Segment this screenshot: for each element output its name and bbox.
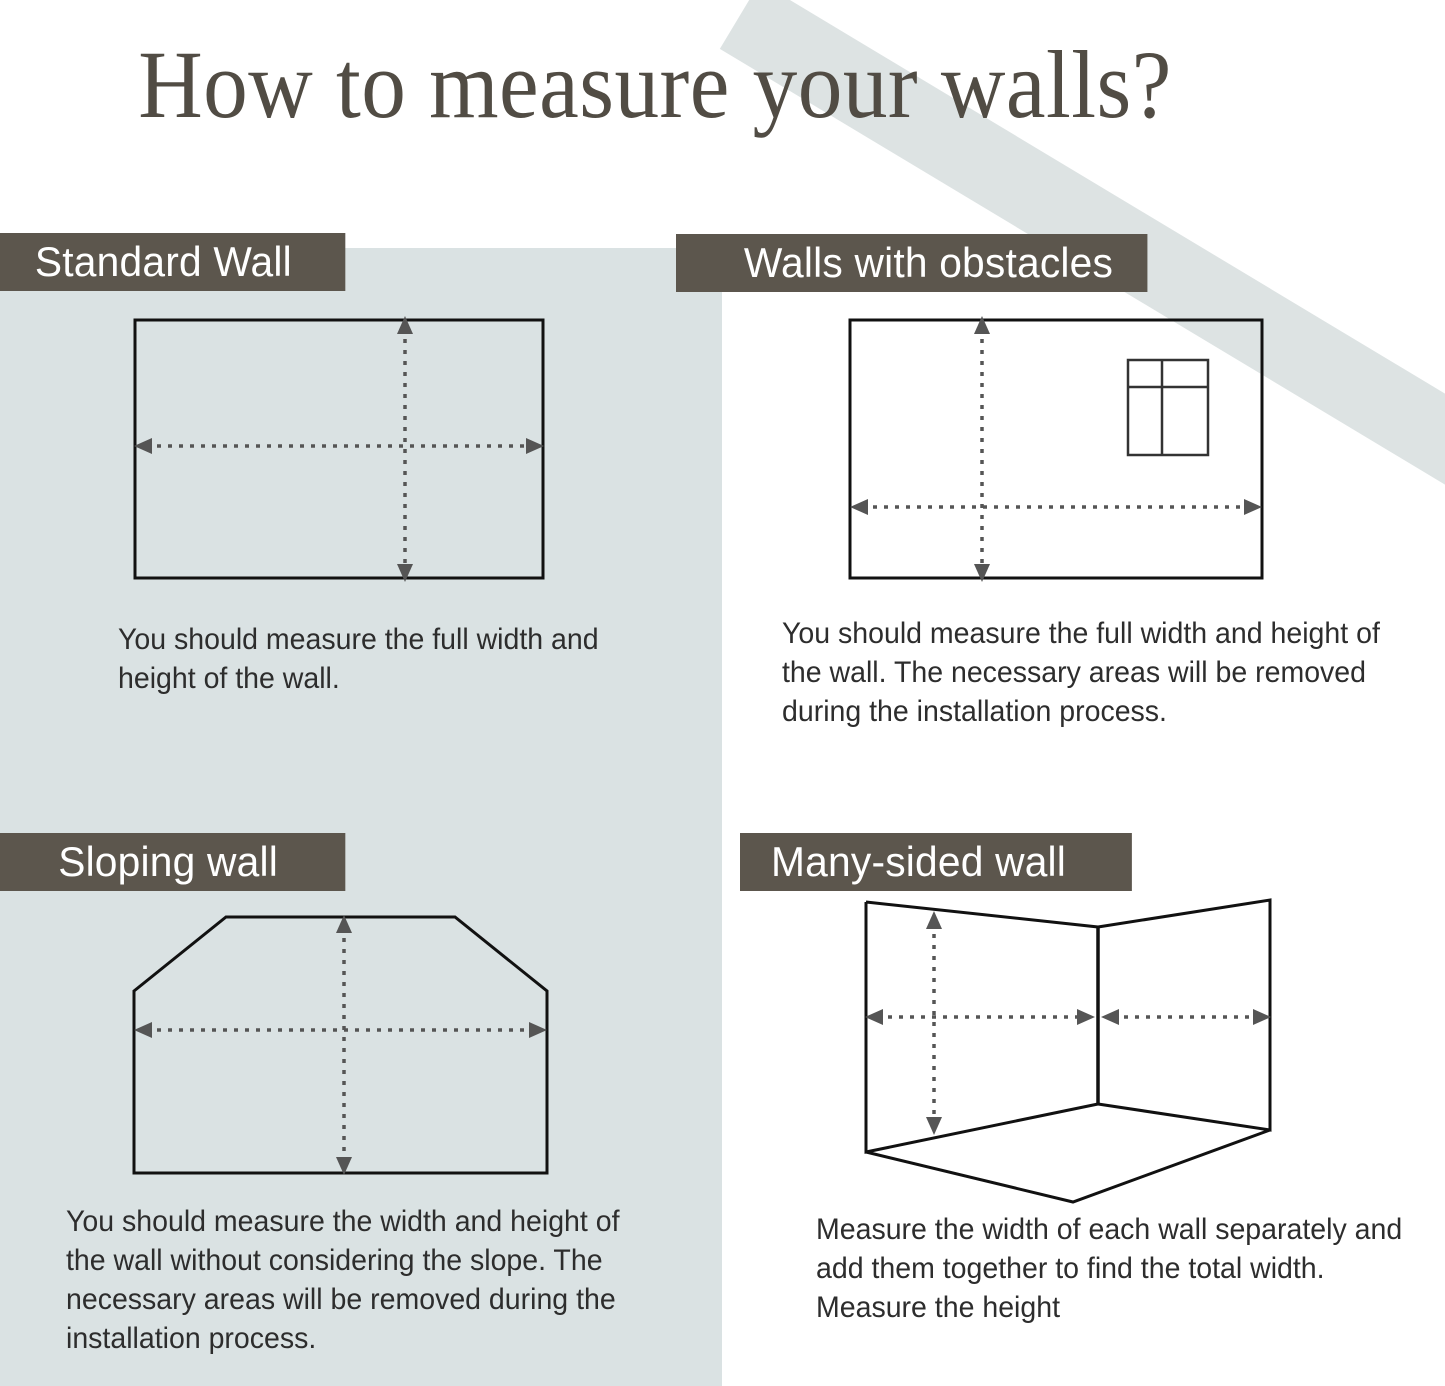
- left-width-arrow-head-right: [1077, 1009, 1095, 1025]
- section-heading-label: Standard Wall: [35, 238, 292, 286]
- left-width-arrow-head-left: [865, 1009, 883, 1025]
- sloped-wall-outline: [134, 917, 547, 1173]
- infographic-page: How to measure your walls? Standard Wall…: [0, 0, 1445, 1386]
- right-wall-outline: [1098, 900, 1270, 1130]
- window-obstacle: [1128, 360, 1208, 455]
- width-arrow-head-right: [529, 1022, 547, 1038]
- section-heading-sloping-wall: Sloping wall: [0, 833, 345, 891]
- right-width-arrow-head-left: [1101, 1009, 1119, 1025]
- page-title: How to measure your walls?: [46, 30, 1264, 140]
- left-wall-outline: [866, 902, 1098, 1152]
- section-heading-label: Walls with obstacles: [744, 239, 1113, 287]
- section-heading-many-sided-wall: Many-sided wall: [740, 833, 1132, 891]
- section-heading-label: Many-sided wall: [771, 838, 1066, 886]
- width-arrow-head-left: [850, 499, 868, 515]
- caption-walls-with-obstacles: You should measure the full width and he…: [782, 614, 1390, 731]
- width-arrow-head-right: [526, 438, 544, 454]
- section-heading-label: Sloping wall: [58, 838, 278, 886]
- width-arrow-head-right: [1244, 499, 1262, 515]
- section-heading-walls-with-obstacles: Walls with obstacles: [676, 234, 1147, 292]
- caption-many-sided-wall: Measure the width of each wall separatel…: [816, 1210, 1405, 1327]
- diagram-walls-with-obstacles: [830, 300, 1300, 600]
- diagram-many-sided-wall: [845, 885, 1295, 1225]
- caption-sloping-wall: You should measure the width and height …: [66, 1202, 636, 1358]
- section-heading-standard-wall: Standard Wall: [0, 233, 345, 291]
- height-arrow-head-down: [926, 1117, 942, 1135]
- width-arrow-head-left: [134, 438, 152, 454]
- width-arrow-head-left: [134, 1022, 152, 1038]
- right-width-arrow-head-right: [1253, 1009, 1271, 1025]
- diagram-standard-wall: [120, 300, 580, 600]
- caption-standard-wall: You should measure the full width and he…: [118, 620, 650, 698]
- height-arrow-head-up: [926, 911, 942, 929]
- diagram-sloping-wall: [110, 895, 580, 1195]
